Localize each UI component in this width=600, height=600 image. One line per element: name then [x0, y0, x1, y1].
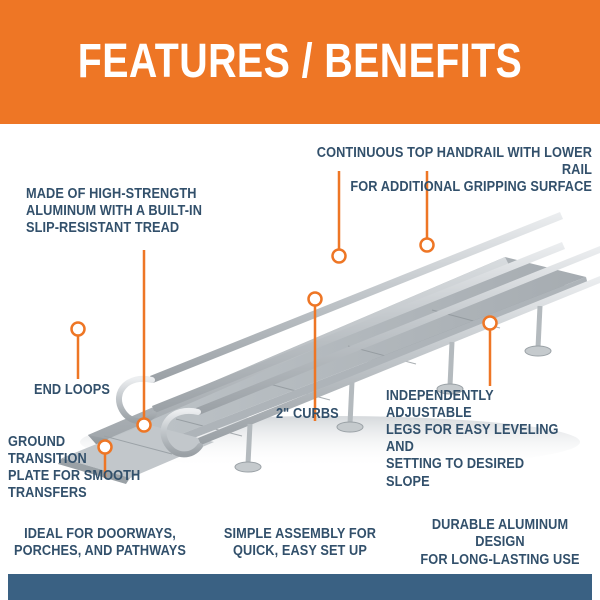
footer-item-doorways: IDEAL FOR DOORWAYS, PORCHES, AND PATHWAY…	[12, 526, 188, 561]
leg-foot	[235, 462, 261, 472]
adjustable-leg	[538, 306, 540, 348]
adjustable-leg	[248, 424, 250, 464]
callout-end-loops: END LOOPS	[34, 382, 166, 399]
adjustable-leg	[450, 342, 452, 386]
leg-foot	[525, 346, 551, 356]
ramp-illustration: CONTINUOUS TOP HANDRAIL WITH LOWER RAIL …	[0, 124, 600, 514]
callout-ground-transition-plate: GROUND TRANSITION PLATE FOR SMOOTH TRANS…	[8, 434, 215, 502]
bottom-accent-bar	[8, 574, 592, 600]
leader-end-loops	[72, 323, 85, 380]
footer-benefits-row: IDEAL FOR DOORWAYS, PORCHES, AND PATHWAY…	[0, 514, 600, 572]
leg-foot	[337, 422, 363, 432]
footer-item-durability: DURABLE ALUMINUM DESIGN FOR LONG-LASTING…	[412, 517, 588, 569]
leader-tread	[138, 250, 151, 432]
footer-item-assembly: SIMPLE ASSEMBLY FOR QUICK, EASY SET UP	[212, 526, 388, 561]
callout-high-strength-aluminum: MADE OF HIGH-STRENGTH ALUMINUM WITH A BU…	[26, 186, 228, 237]
page-title: FEATURES / BENEFITS	[54, 0, 546, 124]
callout-two-inch-curbs: 2" CURBS	[276, 406, 382, 423]
callout-adjustable-legs: INDEPENDENTLY ADJUSTABLE LEGS FOR EASY L…	[386, 388, 571, 491]
features-benefits-infographic: FEATURES / BENEFITS	[0, 0, 600, 600]
leader-adjustable-legs	[484, 317, 497, 387]
callout-continuous-handrail: CONTINUOUS TOP HANDRAIL WITH LOWER RAIL …	[302, 145, 592, 196]
